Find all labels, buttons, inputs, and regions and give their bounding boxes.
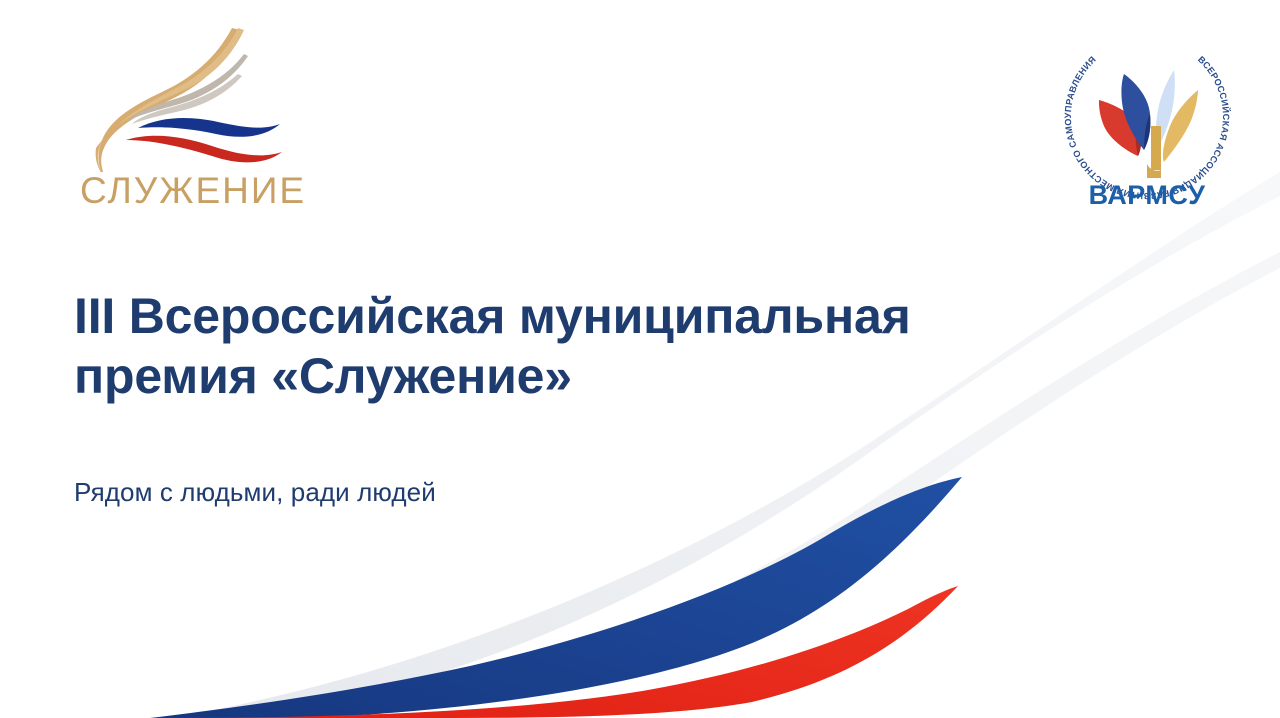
varmsu-logo: ВСЕРОССИЙСКАЯ АССОЦИАЦИЯ РАЗВИТИЯ МЕСТНО… bbox=[1052, 22, 1242, 212]
background-arc-outer bbox=[170, 172, 1280, 718]
headline-block: III Всероссийская муниципальная премия «… bbox=[74, 286, 1094, 406]
logo-wave-red bbox=[126, 136, 282, 163]
sprout-stem bbox=[1151, 126, 1161, 170]
sprout-graphic bbox=[1099, 70, 1198, 178]
sluzhenie-logo: СЛУЖЕНИЕ bbox=[66, 22, 336, 212]
logo-wave-blue bbox=[138, 118, 280, 137]
varmsu-emblem-icon: ВСЕРОССИЙСКАЯ АССОЦИАЦИЯ РАЗВИТИЯ МЕСТНО… bbox=[1052, 22, 1242, 212]
red-wave bbox=[170, 586, 958, 718]
page-title: III Всероссийская муниципальная премия «… bbox=[74, 286, 1094, 406]
blue-wave bbox=[150, 477, 962, 718]
sluzhenie-wordmark: СЛУЖЕНИЕ bbox=[80, 170, 336, 212]
presentation-slide: СЛУЖЕНИЕ ВСЕРОССИЙСКАЯ АССОЦИАЦИЯ РАЗВИТ… bbox=[0, 0, 1280, 718]
varmsu-acronym: ВАРМСУ bbox=[1089, 180, 1206, 210]
tagline: Рядом с людьми, ради людей bbox=[74, 476, 436, 509]
sluzhenie-flame-icon bbox=[66, 22, 336, 172]
